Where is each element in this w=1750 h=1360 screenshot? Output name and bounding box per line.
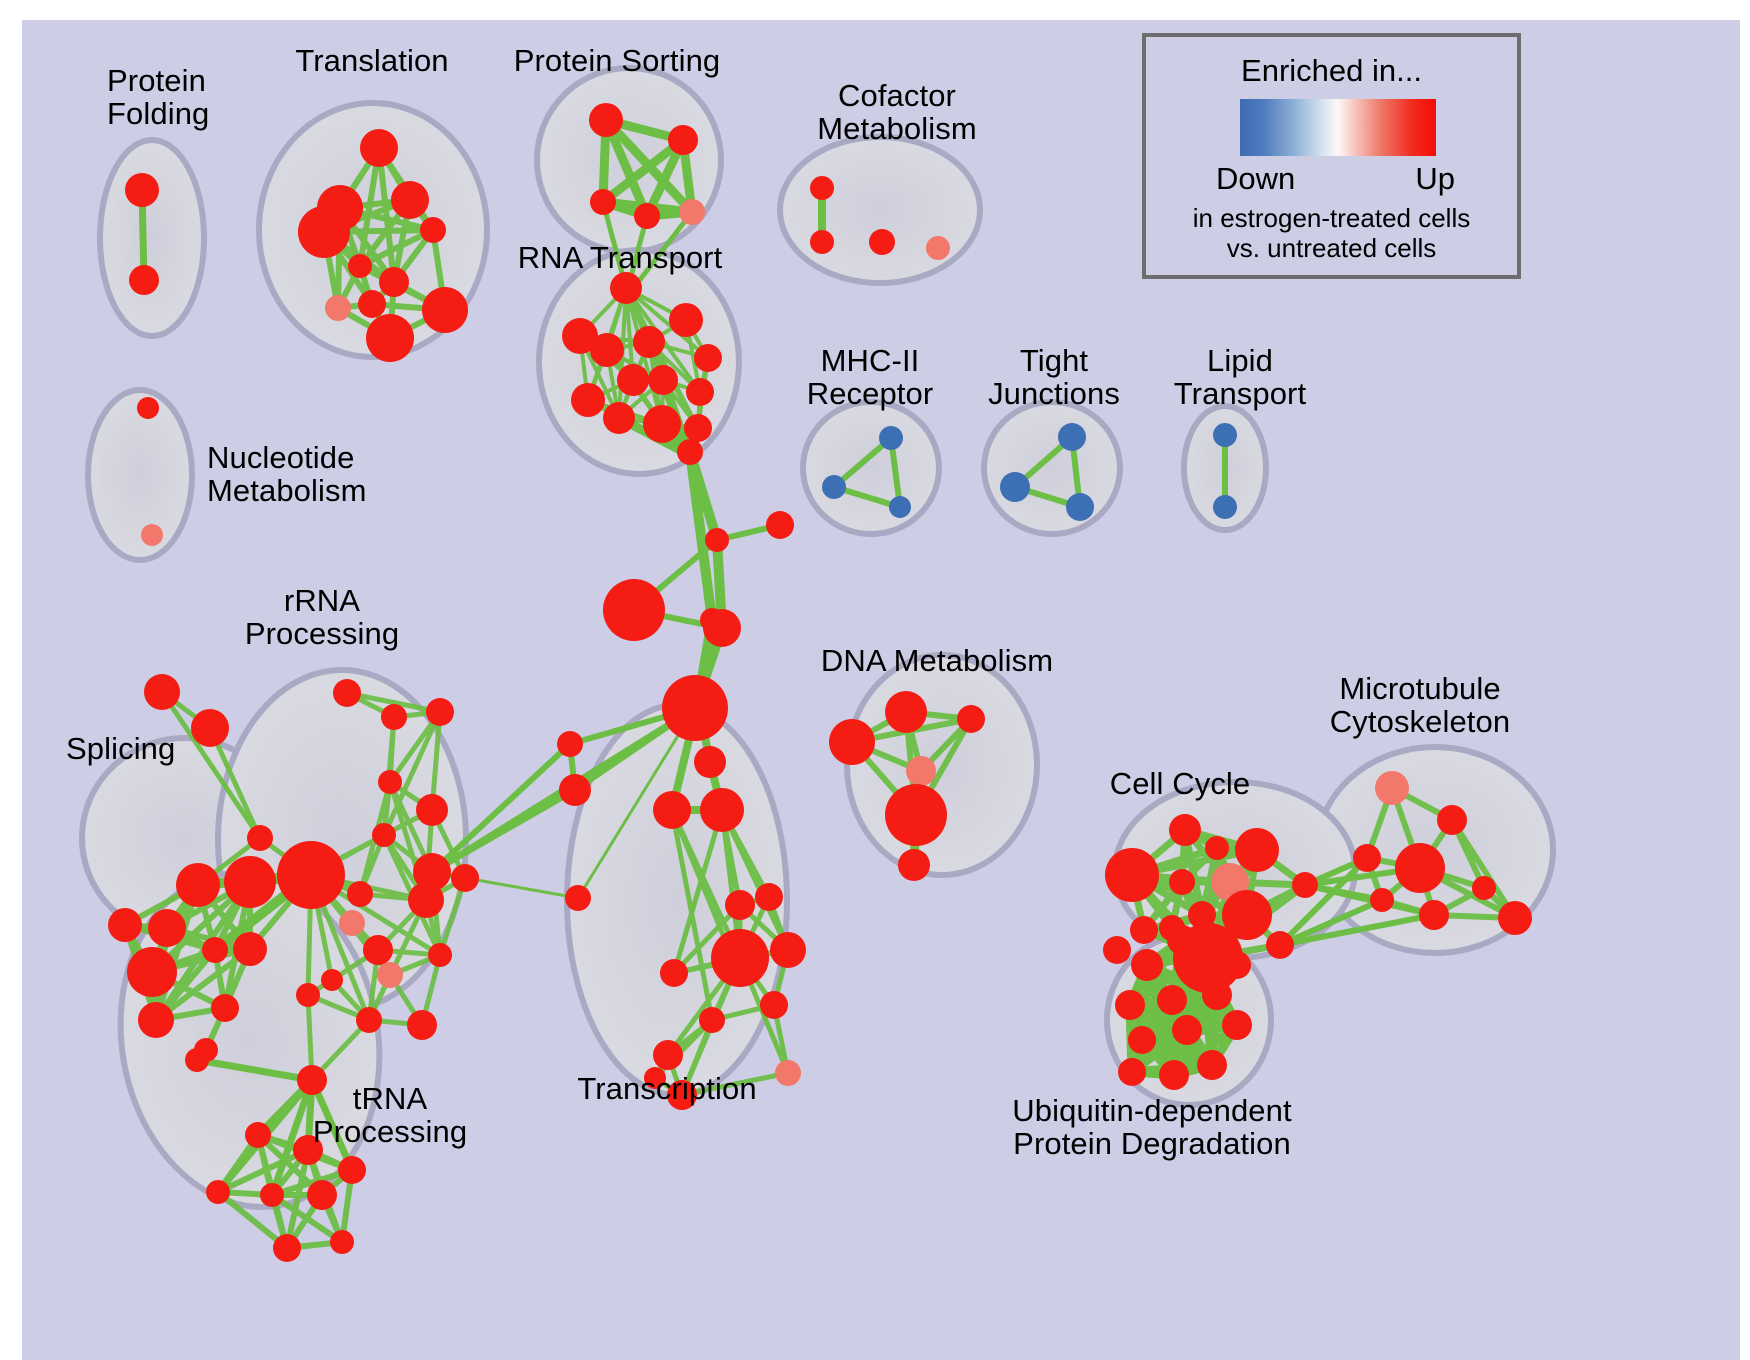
cluster-label-cofactor-metabolism: Cofactor Metabolism [817, 80, 977, 146]
node [1105, 848, 1159, 902]
cluster-label-rna-transport: RNA Transport [518, 242, 723, 275]
node [378, 770, 402, 794]
node [379, 267, 409, 297]
node [1205, 836, 1229, 860]
node [889, 496, 911, 518]
node [725, 890, 755, 920]
legend-color-gradient-bar [1240, 99, 1436, 156]
node [822, 475, 846, 499]
node [565, 885, 591, 911]
cluster-label-translation: Translation [295, 45, 448, 78]
node [694, 746, 726, 778]
node [1419, 900, 1449, 930]
node [926, 236, 950, 260]
node [660, 959, 688, 987]
node [1130, 916, 1158, 944]
node [1370, 888, 1394, 912]
node [307, 1180, 337, 1210]
node [1169, 869, 1195, 895]
node [422, 287, 468, 333]
node [590, 333, 624, 367]
cluster-label-microtubule-cytoskeleton: Microtubule Cytoskeleton [1330, 673, 1510, 739]
node [760, 991, 788, 1019]
node [603, 579, 665, 641]
node [1223, 951, 1251, 979]
node [648, 365, 678, 395]
node [775, 1060, 801, 1086]
node [590, 189, 616, 215]
node [1395, 843, 1445, 893]
hull-tight-junctions [984, 402, 1120, 534]
legend-down-label: Down [1216, 161, 1295, 197]
node [330, 1230, 354, 1254]
node [1213, 423, 1237, 447]
node [1353, 844, 1381, 872]
node [898, 849, 930, 881]
node [1186, 939, 1218, 971]
node [829, 719, 875, 765]
legend-title: Enriched in... [1146, 53, 1517, 89]
hull-cofactor [780, 137, 980, 283]
node [108, 908, 142, 942]
legend-box: Enriched in... Down Up in estrogen-treat… [1142, 33, 1521, 279]
cluster-label-splicing: Splicing [66, 733, 175, 766]
cluster-label-transcription: Transcription [577, 1073, 756, 1106]
node [348, 254, 372, 278]
node [407, 1010, 437, 1040]
figure-canvas: Protein Folding Translation Protein Sort… [0, 0, 1750, 1360]
cluster-label-ubiquitin-protein-degradation: Ubiquitin-dependent Protein Degradation [1012, 1095, 1291, 1161]
node [338, 1156, 366, 1184]
node [339, 910, 365, 936]
node [451, 864, 479, 892]
node [356, 1007, 382, 1033]
node [957, 705, 985, 733]
node [206, 1180, 230, 1204]
node [869, 229, 895, 255]
node [1472, 876, 1496, 900]
node [1115, 990, 1145, 1020]
node [426, 698, 454, 726]
node [1000, 472, 1030, 502]
node [1058, 423, 1086, 451]
node [129, 265, 159, 295]
node [700, 608, 724, 632]
node [668, 125, 698, 155]
node [358, 290, 386, 318]
legend-subtitle-line1: in estrogen-treated cells [1146, 203, 1517, 233]
node [766, 511, 794, 539]
node [1172, 1015, 1202, 1045]
node [810, 176, 834, 200]
node [428, 943, 452, 967]
node [1128, 1026, 1156, 1054]
legend-up-label: Up [1415, 161, 1455, 197]
node [1202, 980, 1232, 1010]
node [138, 1002, 174, 1038]
node [885, 784, 947, 846]
node [416, 794, 448, 826]
node [1197, 1050, 1227, 1080]
cluster-label-lipid-transport: Lipid Transport [1174, 345, 1306, 411]
node [211, 994, 239, 1022]
node [679, 199, 705, 225]
hull-protein-folding [100, 140, 204, 336]
cluster-label-dna-metabolism: DNA Metabolism [821, 645, 1053, 678]
node [1222, 1010, 1252, 1040]
cluster-label-rrna-processing: rRNA Processing [245, 585, 399, 651]
node [391, 181, 429, 219]
node [224, 856, 276, 908]
node [906, 756, 936, 786]
node [684, 414, 712, 442]
node [298, 206, 350, 258]
node [643, 405, 681, 443]
cluster-label-cell-cycle: Cell Cycle [1110, 768, 1251, 801]
node [260, 1183, 284, 1207]
cluster-label-protein-sorting: Protein Sorting [514, 45, 721, 78]
node [296, 983, 320, 1007]
node [705, 528, 729, 552]
node [176, 863, 220, 907]
node [711, 929, 769, 987]
cluster-label-nucleotide-metabolism: Nucleotide Metabolism [207, 442, 367, 508]
node [360, 129, 398, 167]
node [1235, 828, 1279, 872]
node [603, 402, 635, 434]
node [1437, 805, 1467, 835]
node [325, 295, 351, 321]
node [879, 426, 903, 450]
node [277, 841, 345, 909]
cluster-label-mhc-ii-receptor: MHC-II Receptor [807, 345, 934, 411]
node [770, 932, 806, 968]
node [1131, 949, 1163, 981]
node [1375, 771, 1409, 805]
node [686, 378, 714, 406]
cluster-label-trna-processing: tRNA Processing [313, 1083, 467, 1149]
node [247, 825, 273, 851]
node [557, 731, 583, 757]
node [1498, 901, 1532, 935]
cluster-label-tight-junctions: Tight Junctions [988, 345, 1120, 411]
node [347, 881, 373, 907]
node [571, 383, 605, 417]
network-panel: Protein Folding Translation Protein Sort… [22, 20, 1740, 1360]
node [669, 303, 703, 337]
node [610, 272, 642, 304]
node [1159, 1060, 1189, 1090]
node [700, 788, 744, 832]
cluster-label-protein-folding: Protein Folding [107, 65, 209, 131]
node [321, 969, 343, 991]
node [372, 823, 396, 847]
node [589, 103, 623, 137]
node [1118, 1058, 1146, 1086]
node [1266, 931, 1294, 959]
node [633, 326, 665, 358]
node [148, 909, 186, 947]
node [653, 1040, 683, 1070]
node [810, 230, 834, 254]
node [137, 397, 159, 419]
node [366, 314, 414, 362]
node [694, 344, 722, 372]
node [1292, 872, 1318, 898]
node [127, 947, 177, 997]
node [653, 791, 691, 829]
node [885, 691, 927, 733]
node [1169, 814, 1201, 846]
node [1066, 493, 1094, 521]
node [333, 679, 361, 707]
node [233, 932, 267, 966]
node [672, 676, 724, 728]
node [191, 709, 229, 747]
node [381, 704, 407, 730]
node [185, 1048, 209, 1072]
node [413, 853, 451, 891]
node [677, 439, 703, 465]
node [363, 935, 393, 965]
node [699, 1007, 725, 1033]
node [273, 1234, 301, 1262]
node [617, 364, 649, 396]
node [125, 173, 159, 207]
node [377, 962, 403, 988]
node [1103, 936, 1131, 964]
node [202, 937, 228, 963]
node [1157, 985, 1187, 1015]
hull-mhc [803, 402, 939, 534]
node [144, 674, 180, 710]
node [755, 883, 783, 911]
legend-subtitle-line2: vs. untreated cells [1146, 233, 1517, 263]
node [420, 217, 446, 243]
node [141, 524, 163, 546]
node [559, 774, 591, 806]
node [1213, 495, 1237, 519]
legend-subtitle: in estrogen-treated cells vs. untreated … [1146, 203, 1517, 264]
node [634, 203, 660, 229]
node [245, 1122, 271, 1148]
